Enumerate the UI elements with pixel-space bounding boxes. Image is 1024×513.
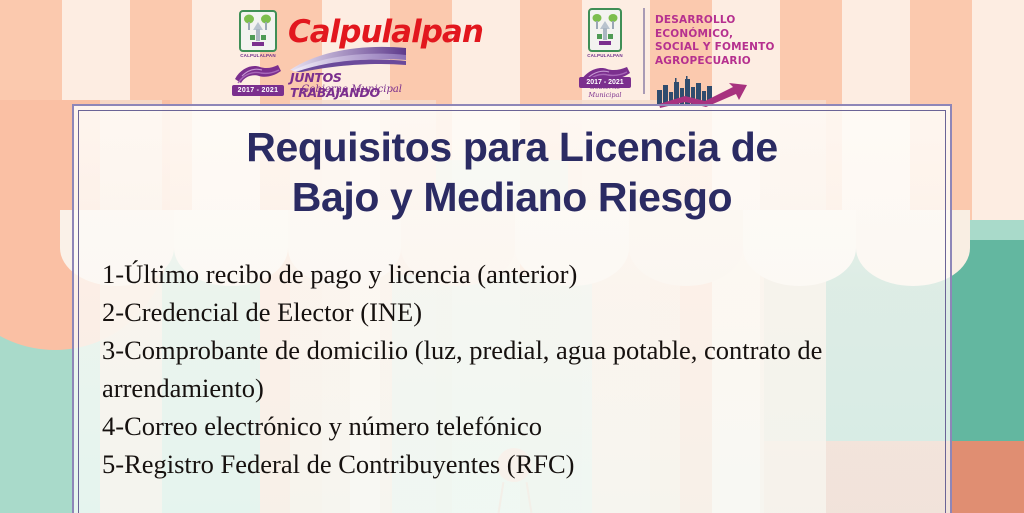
- logo-divider: [643, 8, 645, 94]
- municipality-wordmark: Calpulalpan: [288, 14, 483, 50]
- poster-canvas: CALPULALPAN 2017 - 2021 Calpulalpan: [0, 0, 1024, 513]
- list-item: 2-Credencial de Elector (INE): [102, 293, 948, 331]
- municipal-crest-column: CALPULALPAN 2017 - 2021: [232, 8, 284, 94]
- city-skyline-growth-arrow-icon: [655, 76, 751, 108]
- handshake-icon: 2017 - 2021: [232, 59, 284, 95]
- swoosh-graphic: [290, 46, 406, 72]
- department-subtitle: Gobierno Municipal: [579, 83, 631, 99]
- poster-content: Requisitos para Licencia de Bajo y Media…: [78, 110, 946, 513]
- department-logo: CALPULALPAN 2017 - 2021 Gobierno Municip…: [577, 6, 792, 98]
- term-years-badge: 2017 - 2021: [232, 85, 284, 96]
- department-crest-column: CALPULALPAN 2017 - 2021 Gobierno Municip…: [577, 6, 633, 98]
- page-title-line-2: Bajo y Mediano Riesgo: [78, 172, 946, 222]
- list-item: 3-Comprobante de domicilio (luz, predial…: [102, 331, 948, 407]
- municipal-subtitle: Gobierno Municipal: [301, 84, 402, 95]
- municipal-wordmark-column: Calpulalpan: [284, 8, 406, 96]
- list-item: 5-Registro Federal de Contribuyentes (RF…: [102, 445, 948, 483]
- crest-label: CALPULALPAN: [232, 53, 284, 58]
- page-title: Requisitos para Licencia de Bajo y Media…: [78, 122, 946, 222]
- requirements-list: 1-Último recibo de pago y licencia (ante…: [102, 255, 948, 483]
- poster-header: CALPULALPAN 2017 - 2021 Calpulalpan: [0, 0, 1024, 104]
- list-item: 4-Correo electrónico y número telefónico: [102, 407, 948, 445]
- municipal-government-logo: CALPULALPAN 2017 - 2021 Calpulalpan: [232, 8, 407, 96]
- list-item: 1-Último recibo de pago y licencia (ante…: [102, 255, 948, 293]
- department-name-line: AGROPECUARIO: [655, 55, 792, 69]
- coat-of-arms-icon: [588, 8, 622, 52]
- coat-of-arms-icon: [239, 10, 277, 52]
- page-title-line-1: Requisitos para Licencia de: [246, 124, 778, 170]
- logo-row: CALPULALPAN 2017 - 2021 Calpulalpan: [0, 0, 1024, 104]
- department-name-line: SOCIAL Y FOMENTO: [655, 41, 792, 55]
- department-name-line: DESARROLLO ECONÓMICO,: [655, 14, 792, 41]
- crest-label: CALPULALPAN: [577, 53, 633, 58]
- department-name-block: DESARROLLO ECONÓMICO, SOCIAL Y FOMENTO A…: [655, 6, 792, 113]
